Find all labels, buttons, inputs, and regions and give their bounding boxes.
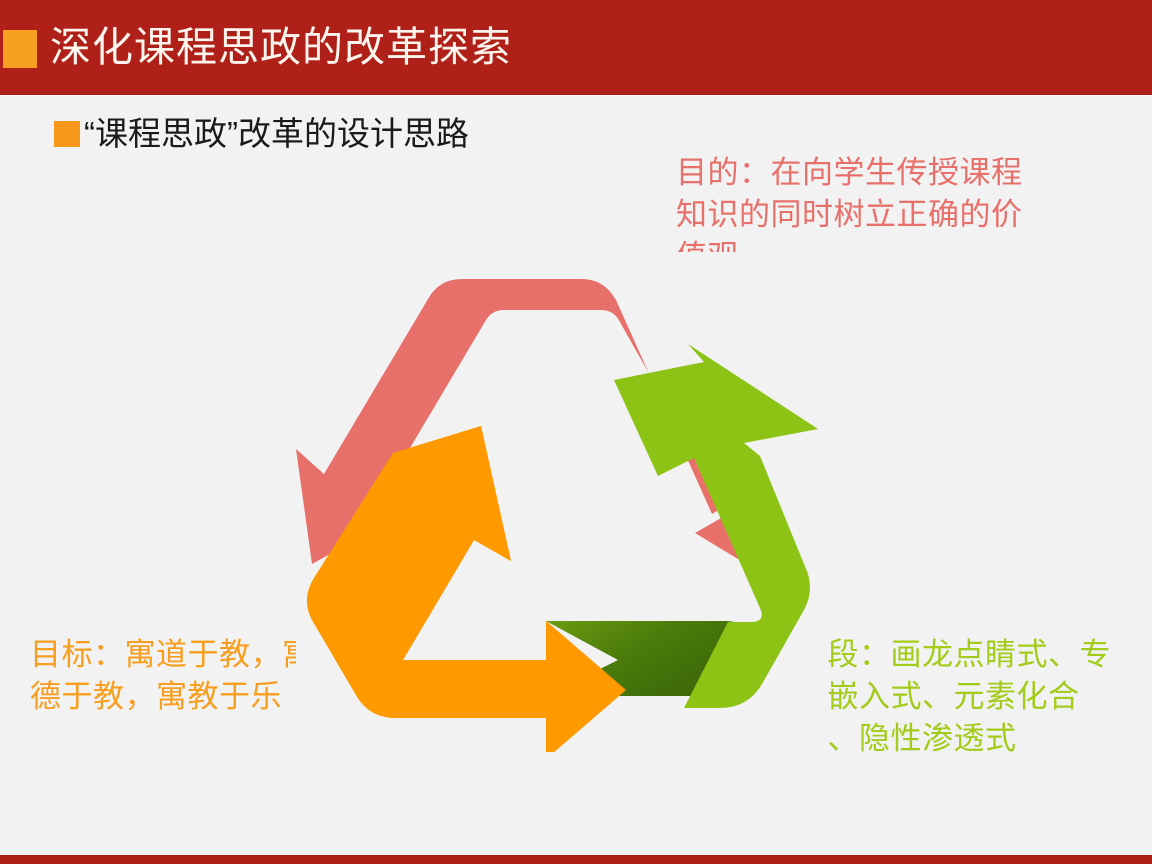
- subtitle-text: “课程思政”改革的设计思路: [84, 114, 469, 154]
- header-marker-square: [3, 30, 37, 68]
- callout-means: 手段：画龙点睛式、专题嵌入式、元素化合式、隐性渗透式: [796, 634, 1126, 760]
- page-title: 深化课程思政的改革探索: [50, 19, 512, 75]
- subtitle-row: “课程思政”改革的设计思路: [54, 114, 469, 154]
- header-bar: 深化课程思政的改革探索: [0, 0, 1152, 95]
- callout-goal: 目标：寓道于教，寓德于教，寓教于乐: [30, 634, 320, 718]
- footer-bar: [0, 855, 1152, 864]
- bullet-square-icon: [54, 121, 80, 147]
- recycle-diagram-visual: [296, 252, 826, 752]
